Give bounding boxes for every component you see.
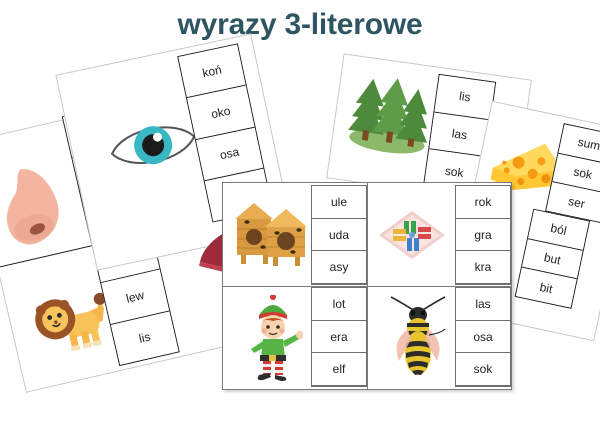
center-card: ule uda asy lot era elf rok gra kra las … bbox=[222, 182, 512, 390]
board-game-illustration bbox=[375, 207, 449, 265]
forest-trees-illustration bbox=[344, 70, 438, 159]
word-cell[interactable]: asy bbox=[312, 251, 366, 284]
elf-word-grid: lot era elf bbox=[311, 287, 367, 387]
cheese-word-grid-top: sum sok ser bbox=[545, 123, 600, 223]
worksheet-page: wyrazy 3-literowe bbox=[0, 0, 600, 424]
word-cell[interactable]: uda bbox=[312, 219, 366, 252]
cheese-word-grid-bottom: ból but bit bbox=[515, 209, 590, 309]
word-cell[interactable]: sok bbox=[456, 353, 510, 386]
word-cell[interactable]: osa bbox=[456, 321, 510, 354]
word-cell[interactable]: las bbox=[456, 288, 510, 321]
board-game-word-grid: rok gra kra bbox=[455, 185, 511, 285]
wasp-word-grid: las osa sok bbox=[455, 287, 511, 387]
word-cell[interactable]: gra bbox=[456, 219, 510, 252]
word-cell[interactable]: kra bbox=[456, 251, 510, 284]
page-title: wyrazy 3-literowe bbox=[0, 8, 600, 42]
word-cell[interactable]: lot bbox=[312, 288, 366, 321]
word-cell[interactable]: era bbox=[312, 321, 366, 354]
beehive-word-grid: ule uda asy bbox=[311, 185, 367, 285]
beehive-illustration bbox=[233, 197, 311, 269]
wasp-illustration bbox=[387, 295, 449, 379]
word-cell[interactable]: rok bbox=[456, 186, 510, 219]
word-cell[interactable]: ule bbox=[312, 186, 366, 219]
eye-illustration bbox=[102, 106, 204, 184]
word-cell[interactable]: elf bbox=[312, 353, 366, 386]
elf-illustration bbox=[245, 295, 303, 381]
